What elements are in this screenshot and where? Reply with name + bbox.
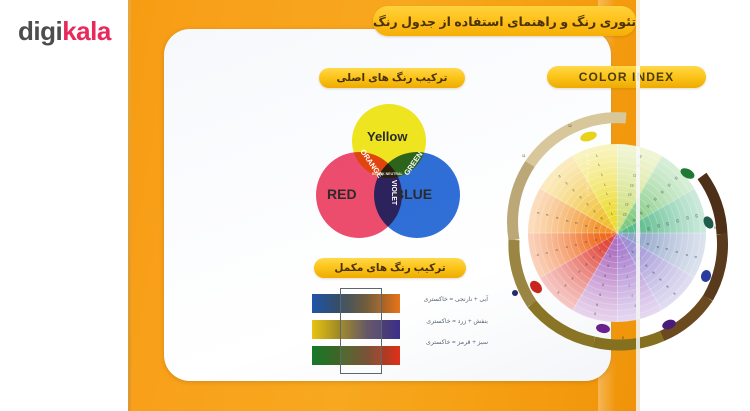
wheel-tick-label: 1 — [600, 173, 603, 177]
arc-label-top: 12 — [568, 124, 572, 128]
wheel-tick-label: 12 — [635, 164, 639, 169]
poster-title-banner: تئوری رنگ و راهنمای استفاده از جدول رنگ — [373, 6, 636, 36]
wheel-tick-label: 12 — [638, 154, 642, 159]
arc-label-bottom: 8 — [622, 336, 624, 340]
venn-label-yellow: Yellow — [367, 129, 407, 144]
poster-side-watermark: color theory guide — [585, 152, 590, 196]
swatch-navy-chip — [512, 290, 518, 296]
gradient-bars-highlight-box — [340, 288, 382, 374]
poster-screenshot: digikala تئوری رنگ و راهنمای استفاده از … — [0, 0, 750, 411]
venn-label-blue: BLUE — [394, 186, 432, 202]
wheel-tick-label: 3 — [536, 212, 540, 215]
wheel-tick-label: 9 — [684, 253, 688, 256]
complementary-notes: آبی + نارنجی = خاکستری بنفش + زرد = خاکس… — [406, 296, 488, 361]
wheel-tick-label: 12 — [622, 212, 626, 217]
complementary-note-3: سبز + قرمز = خاکستری — [406, 339, 488, 346]
swatch-purple-chip — [595, 323, 610, 334]
wheel-tick-label: 9 — [655, 245, 659, 248]
wheel-tick-label: 10 — [675, 218, 680, 222]
badge-color-index-label: COLOR INDEX — [579, 70, 674, 84]
wheel-tick-label: 1 — [608, 202, 611, 206]
logo-text-dark: digi — [18, 16, 62, 46]
wheel-tick-label: 7 — [636, 312, 639, 316]
wheel-tick-label: 3 — [565, 219, 569, 222]
swatch-violet-chip — [661, 318, 677, 331]
wheel-tick-label: 10 — [685, 216, 690, 220]
badge-complementary-label: ترکیب رنگ های مکمل — [334, 262, 445, 274]
complementary-note-2: بنفش + زرد = خاکستری — [406, 318, 488, 325]
wheel-tick-label: 12 — [625, 202, 629, 207]
badge-color-index: COLOR INDEX — [547, 66, 706, 88]
wheel-tick-label: 1 — [595, 153, 598, 157]
venn-label-red: RED — [327, 186, 357, 202]
badge-primary-colors: ترکیب رنگ های اصلی — [319, 68, 465, 88]
swatch-blue-chip — [700, 269, 713, 283]
venn-label-center: BLACK NEUTRAL — [372, 172, 402, 176]
wheel-tick-label: 7 — [633, 303, 636, 307]
primary-venn-diagram: Yellow RED BLUE ORANGE GREEN VIOLET BLAC… — [312, 104, 462, 246]
arc-label-right: 5 — [714, 226, 716, 230]
complementary-gradient-bars — [312, 294, 400, 366]
logo-text-accent: kala — [62, 16, 111, 46]
wheel-tick-label: 7 — [620, 254, 623, 258]
venn-label-violet: VIOLET — [390, 180, 397, 205]
digikala-logo: digikala — [18, 16, 111, 47]
color-index-wheel: 1212121212121211111111111111101010101010… — [502, 108, 738, 356]
badge-complementary-colors: ترکیب رنگ های مکمل — [314, 258, 466, 278]
swatch-yellow-chip — [579, 130, 598, 143]
wheel-tick-label: 10 — [656, 224, 661, 228]
wheel-tick-label: 10 — [646, 226, 651, 230]
arc-label-left: 11 — [522, 154, 526, 158]
wheel-tick-label: 12 — [633, 173, 637, 178]
product-orange-frame: تئوری رنگ و راهنمای استفاده از جدول رنگ … — [128, 0, 640, 411]
wheel-tick-label: 1 — [603, 182, 606, 186]
complementary-note-1: آبی + نارنجی = خاکستری — [406, 296, 488, 303]
wheel-tick-label: 3 — [584, 224, 588, 227]
poster-title-text: تئوری رنگ و راهنمای استفاده از جدول رنگ — [373, 14, 636, 29]
badge-primary-label: ترکیب رنگ های اصلی — [337, 72, 448, 84]
wheel-tick-label: 9 — [636, 240, 640, 243]
